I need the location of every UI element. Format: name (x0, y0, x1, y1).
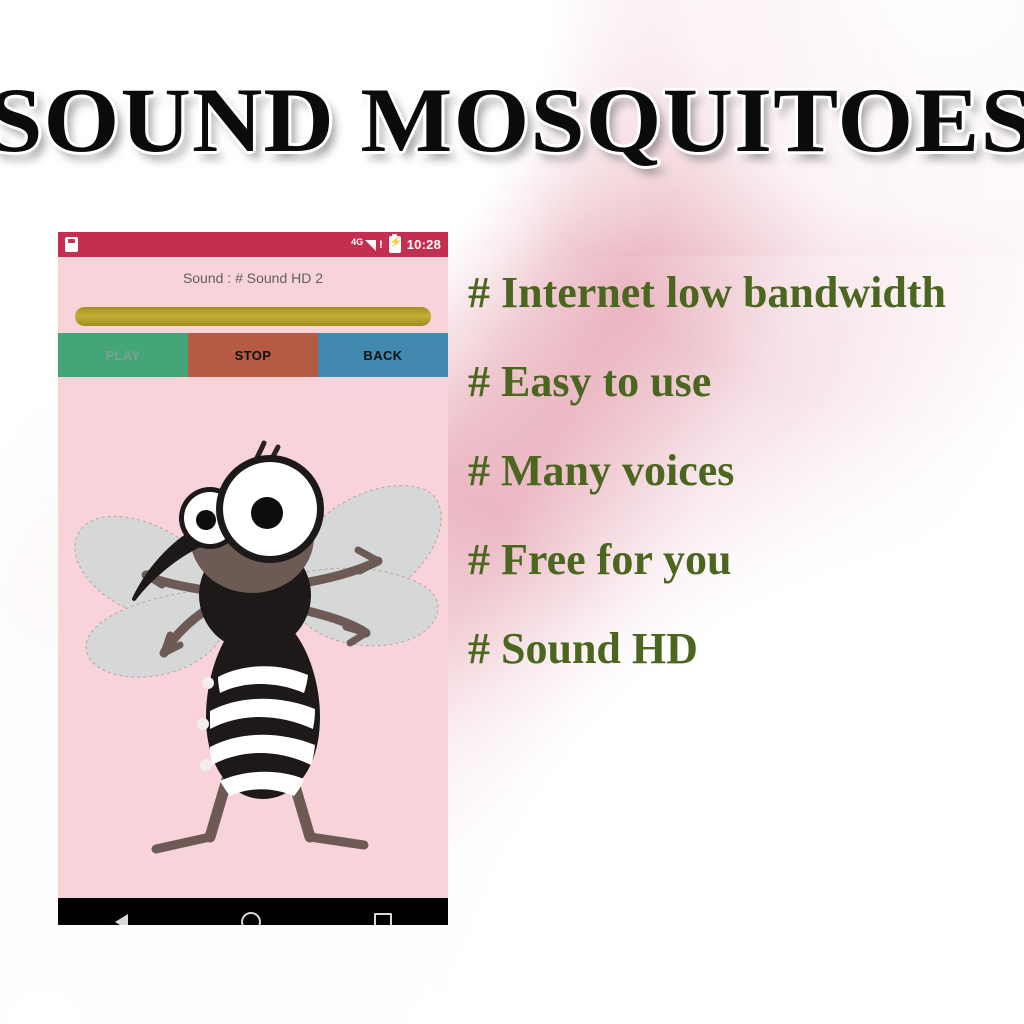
page-title: SOUND MOSQUITOES (0, 74, 1024, 166)
feature-item: # Free for you (468, 515, 1013, 604)
mosquito-artwork (58, 377, 448, 898)
signal-bars-icon (365, 240, 376, 251)
android-nav-bar (58, 898, 448, 925)
nav-recents-icon[interactable] (374, 913, 392, 925)
nav-back-icon[interactable] (115, 914, 128, 925)
battery-charging-icon (389, 236, 401, 253)
status-bar: 4G ! 10:28 (58, 232, 448, 257)
signal-alert-label: ! (379, 239, 383, 251)
feature-item: # Internet low bandwidth (468, 248, 1013, 337)
audio-progress-bar[interactable] (75, 307, 431, 326)
status-bar-left (65, 237, 78, 252)
document-icon (65, 237, 78, 252)
status-bar-right: 4G ! 10:28 (351, 236, 441, 253)
poster-root: SOUND MOSQUITOES 4G ! 10:28 Sound : # So… (0, 0, 1024, 1024)
status-bar-time: 10:28 (407, 237, 441, 252)
play-button[interactable]: PLAY (58, 333, 188, 377)
sound-title-label: Sound : # Sound HD 2 (58, 257, 448, 299)
stop-button[interactable]: STOP (188, 333, 318, 377)
transport-button-row: PLAY STOP BACK (58, 333, 448, 377)
nav-home-icon[interactable] (241, 912, 261, 925)
feature-item: # Sound HD (468, 604, 1013, 693)
seekbar-container (58, 299, 448, 333)
network-label: 4G (351, 237, 363, 247)
feature-item: # Many voices (468, 426, 1013, 515)
feature-item: # Easy to use (468, 337, 1013, 426)
feature-list: # Internet low bandwidth # Easy to use #… (468, 248, 1013, 693)
back-button[interactable]: BACK (318, 333, 448, 377)
phone-mockup: 4G ! 10:28 Sound : # Sound HD 2 PLAY STO… (58, 232, 448, 925)
